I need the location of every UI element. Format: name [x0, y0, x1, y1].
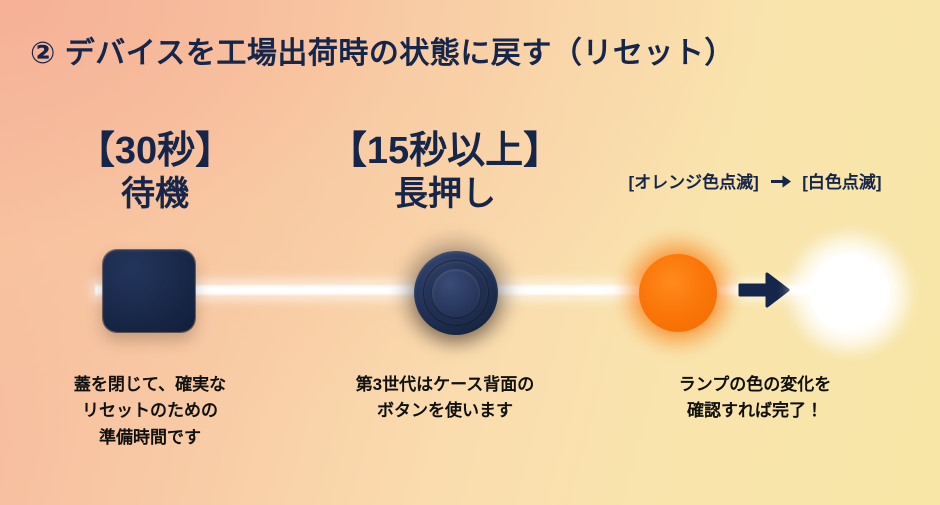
page-title: ② デバイスを工場出荷時の状態に戻す（リセット） [30, 28, 735, 72]
step-heading-long-press-sub: 長押し [300, 175, 590, 213]
step-caption-wait: 蓋を閉じて、確実な リセットのための 準備時間です [25, 372, 275, 451]
lamp-orange-icon [617, 232, 739, 354]
step-heading-wait: 【30秒】 待機 [20, 130, 290, 213]
lamp-label-to: [白色点滅] [802, 173, 881, 192]
step-heading-wait-sub: 待機 [20, 175, 290, 213]
step-heading-long-press-main: 【15秒以上】 [300, 130, 590, 173]
step-heading-long-press: 【15秒以上】 長押し [300, 130, 590, 213]
step-caption-lamp-check: ランプの色の変化を 確認すれば完了！ [630, 372, 880, 425]
caption-line: 準備時間です [25, 425, 275, 451]
device-reset-button-icon [398, 235, 514, 351]
lamp-white-core [810, 253, 890, 333]
device-case-closed-icon [103, 250, 195, 332]
slide-canvas: ② デバイスを工場出荷時の状態に戻す（リセット） 【30秒】 待機 【15秒以上… [0, 0, 940, 505]
step-heading-wait-main: 【30秒】 [20, 130, 290, 173]
lamp-orange-core [639, 254, 717, 332]
lamp-color-label: [オレンジ色点滅] [白色点滅] [590, 168, 920, 194]
reset-button-core [432, 269, 480, 317]
arrow-right-icon [770, 174, 792, 194]
caption-line: リセットのための [25, 398, 275, 424]
step-caption-long-press: 第3世代はケース背面の ボタンを使います [310, 372, 580, 425]
caption-line: 蓋を閉じて、確実な [25, 372, 275, 398]
arrow-right-icon-large [738, 270, 790, 310]
caption-line: 第3世代はケース背面の [310, 372, 580, 398]
lamp-white-icon [787, 230, 913, 356]
caption-line: ボタンを使います [310, 398, 580, 424]
caption-line: ランプの色の変化を [630, 372, 880, 398]
caption-line: 確認すれば完了！ [630, 398, 880, 424]
lamp-label-from: [オレンジ色点滅] [628, 173, 758, 192]
